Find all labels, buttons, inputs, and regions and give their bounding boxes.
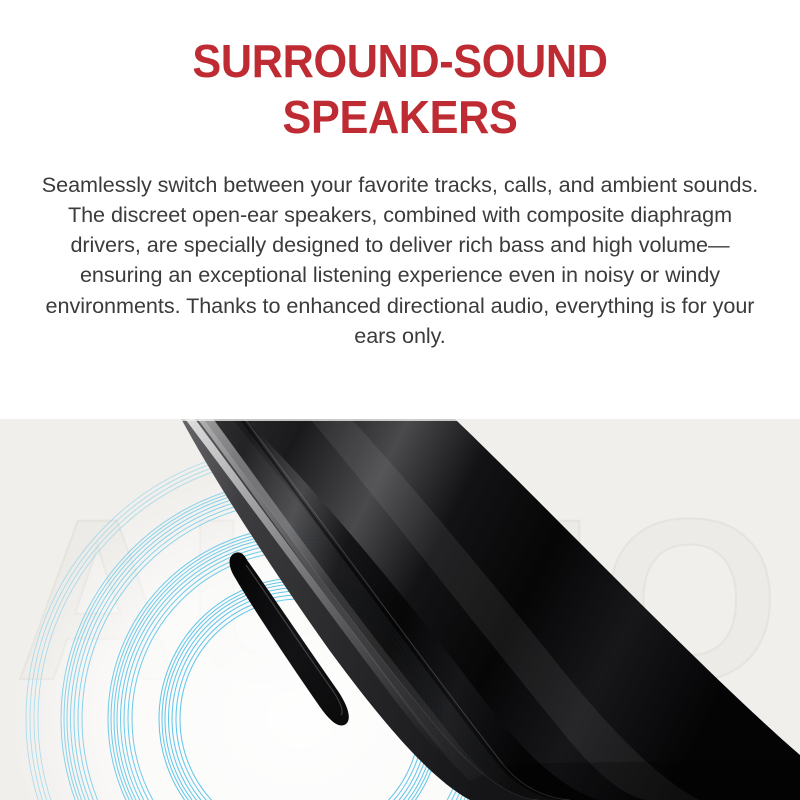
product-hero-image: AUDIO [0, 419, 800, 800]
hero-illustration: AUDIO [0, 419, 800, 800]
band-shadow-lower [500, 759, 800, 800]
product-description: Seamlessly switch between your favorite … [30, 170, 770, 352]
hero-top-edge [0, 419, 800, 421]
text-section: SURROUND-SOUND SPEAKERS Seamlessly switc… [0, 0, 800, 419]
page-title-line-2: SPEAKERS [24, 89, 776, 145]
product-feature-page: SURROUND-SOUND SPEAKERS Seamlessly switc… [0, 0, 800, 800]
page-title: SURROUND-SOUND SPEAKERS [0, 33, 800, 145]
page-title-line-1: SURROUND-SOUND [24, 33, 776, 89]
